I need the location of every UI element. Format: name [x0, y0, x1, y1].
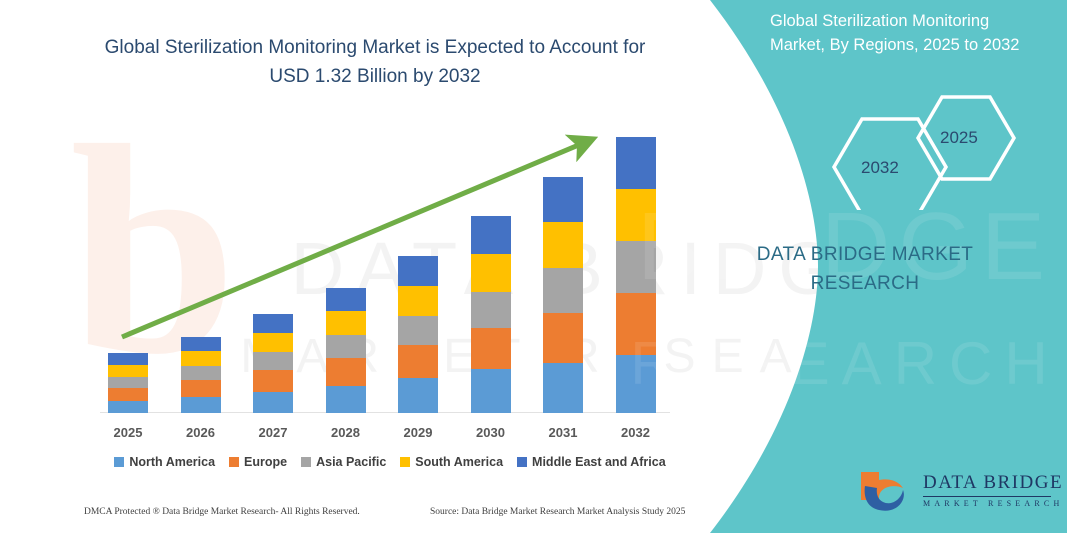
hexagon-label-2025: 2025 [940, 128, 978, 148]
bar-segment[interactable] [108, 377, 148, 388]
footer-copyright: DMCA Protected ® Data Bridge Market Rese… [84, 507, 360, 517]
bar-segment[interactable] [471, 328, 511, 369]
bar-segment[interactable] [326, 288, 366, 311]
bar-segment[interactable] [326, 311, 366, 335]
bar-segment[interactable] [398, 256, 438, 286]
x-tick-2027: 2027 [243, 425, 303, 440]
legend-item[interactable]: Asia Pacific [301, 455, 386, 469]
chart-title-line2: USD 1.32 Billion by 2032 [75, 63, 675, 92]
bar-segment[interactable] [398, 286, 438, 316]
x-tick-2025: 2025 [98, 425, 158, 440]
bar-segment[interactable] [253, 392, 293, 413]
x-axis-labels: 20252026202720282029203020312032 [100, 425, 680, 445]
panel-title: Global Sterilization Monitoring Market, … [770, 10, 1055, 58]
bar-segment[interactable] [253, 333, 293, 352]
bar-segment[interactable] [543, 222, 583, 268]
bar-segment[interactable] [471, 254, 511, 292]
panel-brand: DATA BRIDGE MARKET RESEARCH [695, 240, 1035, 299]
bar-segment[interactable] [108, 388, 148, 401]
legend-swatch-icon [114, 457, 124, 467]
legend-item[interactable]: North America [114, 455, 215, 469]
x-tick-2028: 2028 [316, 425, 376, 440]
x-tick-2030: 2030 [461, 425, 521, 440]
legend-item[interactable]: South America [400, 455, 503, 469]
legend-label: Asia Pacific [316, 455, 386, 469]
bar-group-2029[interactable] [398, 120, 438, 413]
bar-segment[interactable] [108, 401, 148, 413]
bar-segment[interactable] [398, 316, 438, 345]
bar-segment[interactable] [326, 335, 366, 358]
legend-item[interactable]: Europe [229, 455, 287, 469]
bar-group-2030[interactable] [471, 120, 511, 413]
bar-group-2026[interactable] [181, 120, 221, 413]
x-tick-2026: 2026 [171, 425, 231, 440]
bar-segment[interactable] [108, 353, 148, 365]
bar-segment[interactable] [181, 337, 221, 351]
chart-title: Global Sterilization Monitoring Market i… [75, 34, 675, 91]
legend-swatch-icon [301, 457, 311, 467]
legend-label: South America [415, 455, 503, 469]
bar-group-2027[interactable] [253, 120, 293, 413]
x-tick-2029: 2029 [388, 425, 448, 440]
bar-segment[interactable] [253, 352, 293, 370]
bar-segment[interactable] [181, 380, 221, 397]
bar-segment[interactable] [253, 370, 293, 392]
bar-segment[interactable] [471, 292, 511, 328]
legend-swatch-icon [400, 457, 410, 467]
bar-segment[interactable] [398, 378, 438, 413]
bar-group-2028[interactable] [326, 120, 366, 413]
panel-title-line2: Market, By Regions, 2025 to 2032 [770, 34, 1055, 58]
bar-group-2031[interactable] [543, 120, 583, 413]
bar-segment[interactable] [543, 313, 583, 363]
bar-segment[interactable] [326, 358, 366, 386]
bar-segment[interactable] [326, 386, 366, 413]
chart-legend: North AmericaEuropeAsia PacificSouth Ame… [100, 455, 680, 469]
bar-segment[interactable] [471, 369, 511, 413]
bar-segment[interactable] [398, 345, 438, 378]
legend-label: North America [129, 455, 215, 469]
panel-brand-line1: DATA BRIDGE MARKET [695, 240, 1035, 269]
legend-label: Europe [244, 455, 287, 469]
bar-segment[interactable] [181, 351, 221, 366]
panel-brand-line2: RESEARCH [695, 269, 1035, 298]
legend-swatch-icon [229, 457, 239, 467]
bar-segment[interactable] [253, 314, 293, 333]
hexagon-label-2032: 2032 [861, 158, 899, 178]
panel-title-line1: Global Sterilization Monitoring [770, 10, 1055, 34]
bar-segment[interactable] [181, 397, 221, 413]
bar-segment[interactable] [471, 216, 511, 254]
bar-segment[interactable] [543, 363, 583, 413]
infographic-canvas: b DATA BRIDGE MARKET RESEARCH Global Ste… [0, 0, 1067, 533]
bar-segment[interactable] [543, 177, 583, 222]
bar-segment[interactable] [543, 268, 583, 313]
bar-chart-plot [100, 120, 680, 413]
chart-title-line1: Global Sterilization Monitoring Market i… [75, 34, 675, 63]
bar-group-2025[interactable] [108, 120, 148, 413]
legend-swatch-icon [517, 457, 527, 467]
bar-segment[interactable] [108, 365, 148, 377]
bar-segment[interactable] [181, 366, 221, 380]
x-tick-2031: 2031 [533, 425, 593, 440]
